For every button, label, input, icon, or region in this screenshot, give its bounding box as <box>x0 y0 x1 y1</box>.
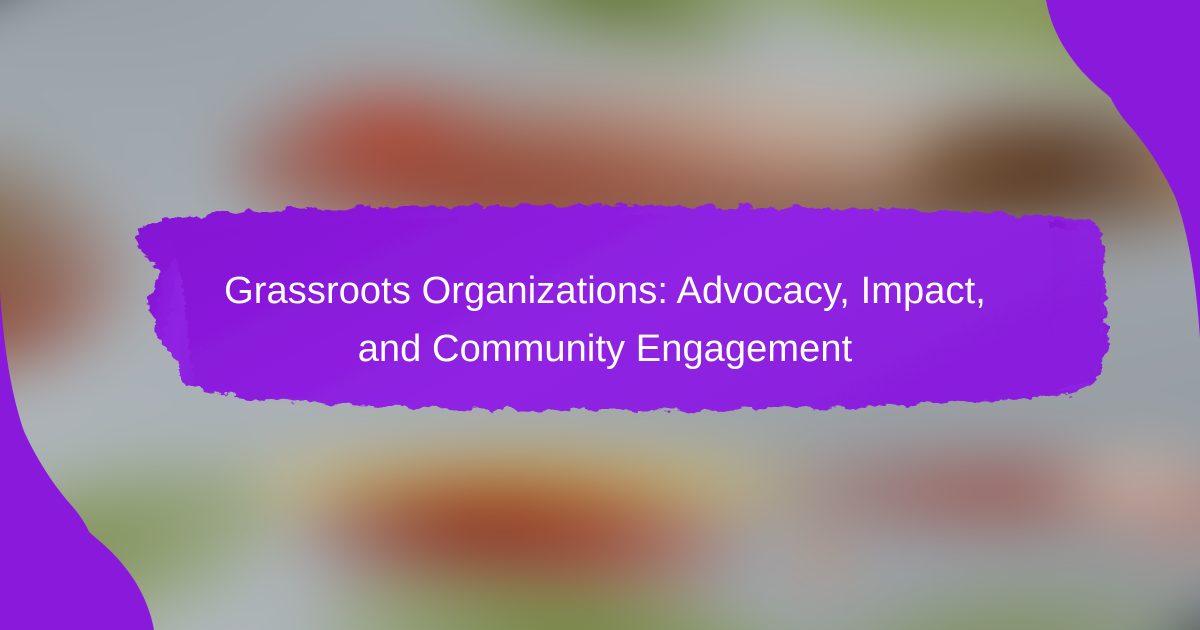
photo-orange-dot <box>784 541 861 581</box>
article-header-card: Grassroots Organizations: Advocacy, Impa… <box>0 0 1200 630</box>
photo-red-accent-left <box>262 73 508 186</box>
page-title: Grassroots Organizations: Advocacy, Impa… <box>140 262 1070 378</box>
title-line-2: and Community Engagement <box>140 320 1070 378</box>
title-line-1: Grassroots Organizations: Advocacy, Impa… <box>140 262 1070 320</box>
